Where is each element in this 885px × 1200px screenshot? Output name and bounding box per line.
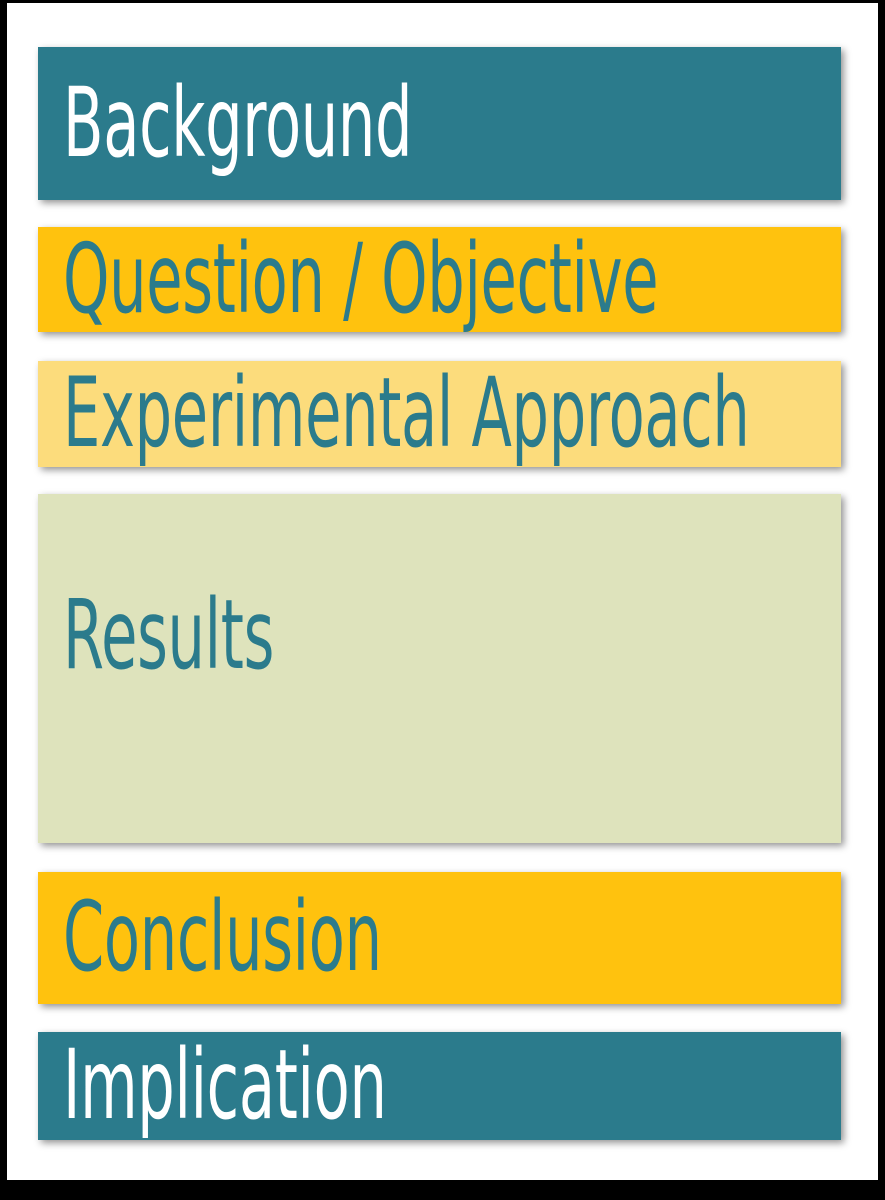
section-label-question-objective: Question / Objective	[63, 234, 658, 325]
section-label-conclusion: Conclusion	[63, 892, 382, 983]
section-band-question-objective[interactable]: Question / Objective	[38, 227, 841, 332]
poster-page: Background Question / Objective Experime…	[7, 3, 878, 1180]
section-band-results[interactable]: Results	[38, 494, 841, 843]
outer-frame: Background Question / Objective Experime…	[0, 0, 885, 1200]
section-band-conclusion[interactable]: Conclusion	[38, 872, 841, 1004]
section-label-experimental-approach: Experimental Approach	[63, 368, 750, 459]
section-label-background: Background	[63, 78, 412, 169]
section-band-background[interactable]: Background	[38, 47, 841, 200]
section-band-stack: Background Question / Objective Experime…	[38, 47, 841, 1140]
section-label-implication: Implication	[63, 1040, 387, 1131]
section-label-results: Results	[63, 590, 274, 681]
section-band-implication[interactable]: Implication	[38, 1032, 841, 1140]
section-band-experimental-approach[interactable]: Experimental Approach	[38, 361, 841, 467]
